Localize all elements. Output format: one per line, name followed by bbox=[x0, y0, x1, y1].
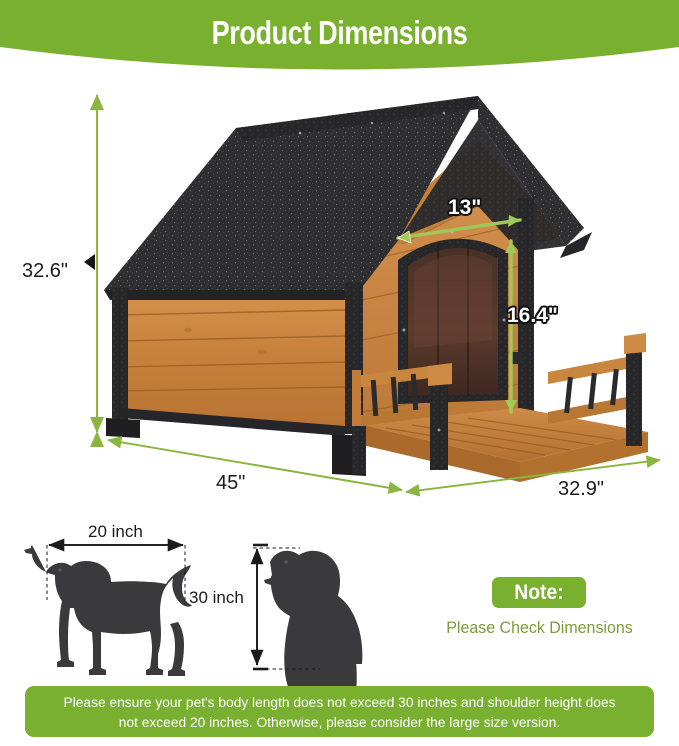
house-gable bbox=[372, 140, 566, 248]
note-badge-label: Note: bbox=[496, 577, 582, 608]
standing-dog-silhouette bbox=[24, 545, 192, 676]
standing-dog-length-label: 20 inch bbox=[88, 522, 143, 542]
sitting-dog-height-label: 30 inch bbox=[189, 588, 244, 608]
porch-railing-left bbox=[352, 366, 430, 432]
dimension-label-height: 32.6" bbox=[22, 260, 68, 283]
dimension-line-length bbox=[108, 440, 402, 490]
note-badge: Note: bbox=[492, 577, 586, 608]
dimension-line-height bbox=[84, 95, 97, 432]
note-subtitle: Please Check Dimensions bbox=[422, 618, 658, 638]
house-side-wall bbox=[120, 283, 345, 432]
porch-railing-right bbox=[548, 356, 632, 424]
dimension-standing-dog-length bbox=[47, 545, 185, 605]
dimension-label-depth: 32.9" bbox=[558, 478, 604, 501]
house-frame-posts bbox=[106, 198, 534, 476]
footer-banner: Please ensure your pet's body length doe… bbox=[25, 686, 654, 737]
house-doorway bbox=[398, 231, 508, 405]
dimension-label-door-width: 13" bbox=[448, 196, 481, 220]
dimension-label-door-height: 16.4" bbox=[507, 304, 558, 328]
porch-deck bbox=[358, 408, 648, 482]
dimension-sitting-dog-height bbox=[253, 545, 320, 669]
dimension-line-depth bbox=[406, 460, 660, 492]
page-title: Product Dimensions bbox=[61, 14, 618, 52]
door-latch-icon bbox=[512, 352, 522, 364]
porch-posts bbox=[352, 333, 646, 474]
house-front-wall bbox=[362, 196, 520, 432]
dimension-label-length: 45" bbox=[216, 472, 245, 495]
house-roof bbox=[104, 96, 592, 300]
footer-text: Please ensure your pet's body length doe… bbox=[34, 686, 644, 733]
infographic-canvas: Product Dimensions bbox=[0, 0, 679, 746]
header-banner: Product Dimensions bbox=[0, 0, 679, 82]
